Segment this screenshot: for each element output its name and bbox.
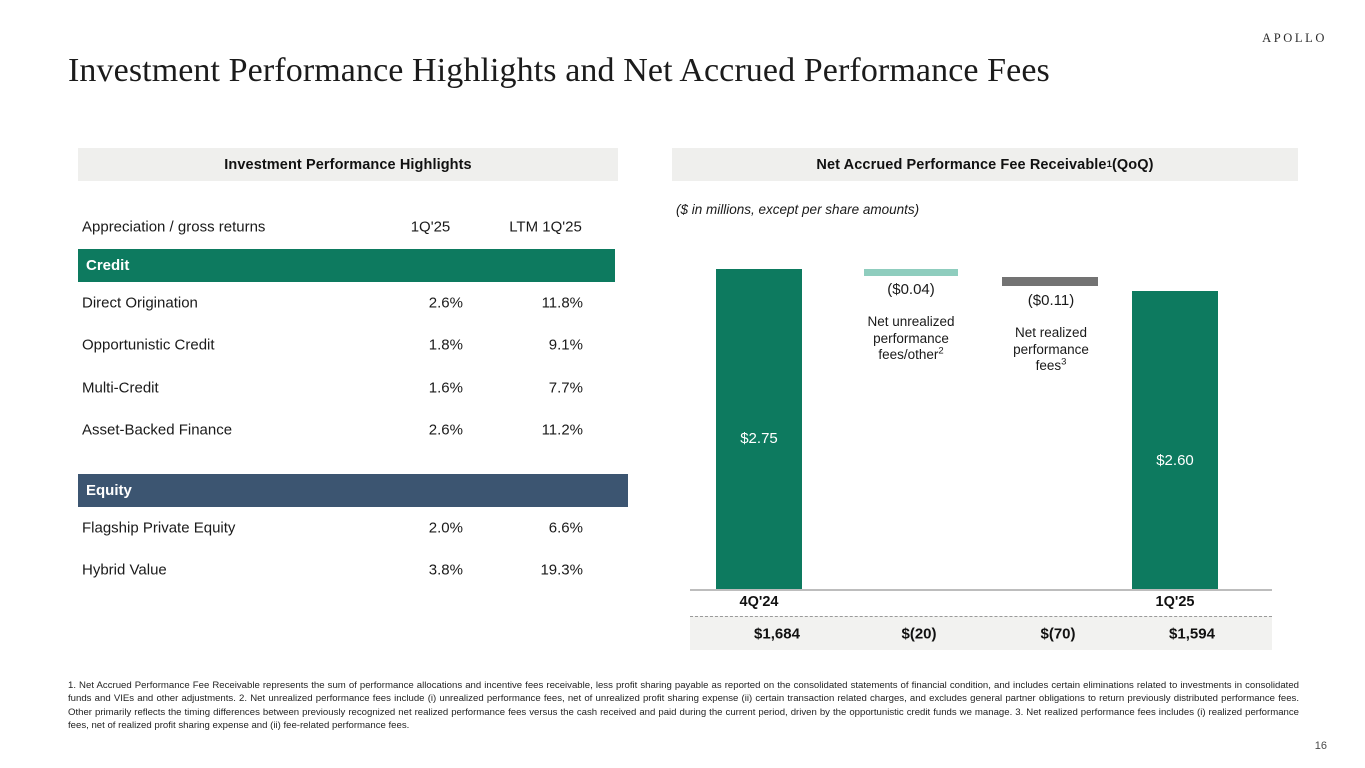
row-value-col2: 11.8% xyxy=(508,294,583,311)
caption-line-3: fees xyxy=(1036,358,1062,373)
section-header-equity: Equity xyxy=(78,474,628,507)
table-row: Hybrid Value 3.8% 19.3% xyxy=(78,549,618,592)
table-row: Asset-Backed Finance 2.6% 11.2% xyxy=(78,409,618,452)
column-header-col2: LTM 1Q'25 xyxy=(508,219,583,236)
right-panel-header: Net Accrued Performance Fee Receivable1 … xyxy=(672,148,1298,181)
caption-line-1: Net unrealized xyxy=(867,314,954,329)
chart-plot-area: $2.75 ($0.04) Net unrealized performance… xyxy=(672,252,1272,594)
column-header-label: Appreciation / gross returns xyxy=(82,219,265,236)
bar-net-unrealized-performance-fees xyxy=(864,269,958,276)
caption-line-1: Net realized xyxy=(1015,325,1087,340)
bar-1q25: $2.60 xyxy=(1132,291,1218,589)
section-header-equity-label: Equity xyxy=(78,482,132,499)
table-row: Multi-Credit 1.6% 7.7% xyxy=(78,367,618,410)
section-header-credit-label: Credit xyxy=(78,257,129,274)
page-number: 16 xyxy=(1315,740,1327,752)
right-panel-header-label: Net Accrued Performance Fee Receivable xyxy=(816,157,1106,173)
bar-1q25-value: $2.60 xyxy=(1132,452,1218,469)
row-value-col1: 2.6% xyxy=(398,422,463,439)
left-panel-header: Investment Performance Highlights xyxy=(78,148,618,181)
caption-line-2: performance xyxy=(873,331,949,346)
summary-total-4q24: $1,684 xyxy=(712,625,842,642)
row-value-col2: 11.2% xyxy=(508,422,583,439)
chart-axis-labels: 4Q'24 1Q'25 xyxy=(672,594,1272,616)
summary-total-unrealized: $(20) xyxy=(854,625,984,642)
row-label: Asset-Backed Finance xyxy=(82,422,232,439)
investment-performance-table: Appreciation / gross returns 1Q'25 LTM 1… xyxy=(78,206,618,592)
chart-baseline xyxy=(690,589,1272,591)
row-value-col1: 3.8% xyxy=(398,562,463,579)
table-row: Opportunistic Credit 1.8% 9.1% xyxy=(78,324,618,367)
footnote-marker-2: 2 xyxy=(938,346,943,357)
table-row: Direct Origination 2.6% 11.8% xyxy=(78,282,618,325)
axis-tick-4q24: 4Q'24 xyxy=(699,594,819,610)
row-label: Hybrid Value xyxy=(82,562,167,579)
left-panel-header-label: Investment Performance Highlights xyxy=(224,157,471,173)
right-panel-header-suffix: (QoQ) xyxy=(1112,157,1154,173)
row-label: Flagship Private Equity xyxy=(82,519,235,536)
bar-net-unrealized-caption: Net unrealized performance fees/other2 xyxy=(847,314,975,364)
row-value-col1: 1.8% xyxy=(398,337,463,354)
bar-4q24-value: $2.75 xyxy=(716,430,802,447)
footnote-marker-3: 3 xyxy=(1061,357,1066,368)
chart-units-note: ($ in millions, except per share amounts… xyxy=(676,202,919,217)
row-value-col1: 2.0% xyxy=(398,519,463,536)
bar-net-unrealized-value: ($0.04) xyxy=(847,281,975,298)
net-accrued-performance-fee-chart: ($ in millions, except per share amounts… xyxy=(672,196,1298,648)
bar-4q24: $2.75 xyxy=(716,269,802,589)
row-label: Multi-Credit xyxy=(82,379,159,396)
column-header-col1: 1Q'25 xyxy=(398,219,463,236)
summary-total-realized: $(70) xyxy=(993,625,1123,642)
chart-summary-row: $1,684 $(20) $(70) $1,594 xyxy=(690,616,1272,650)
bar-net-realized-value: ($0.11) xyxy=(987,292,1115,309)
row-label: Direct Origination xyxy=(82,294,198,311)
table-row: Flagship Private Equity 2.0% 6.6% xyxy=(78,507,618,550)
row-value-col2: 9.1% xyxy=(508,337,583,354)
section-header-credit: Credit xyxy=(78,249,615,282)
row-value-col2: 6.6% xyxy=(508,519,583,536)
caption-line-2: performance xyxy=(1013,342,1089,357)
row-label: Opportunistic Credit xyxy=(82,337,215,354)
axis-tick-1q25: 1Q'25 xyxy=(1115,594,1235,610)
apollo-logo: APOLLO xyxy=(1262,31,1327,46)
bar-net-realized-performance-fees xyxy=(1002,277,1098,286)
section-spacer xyxy=(78,452,618,474)
row-value-col1: 1.6% xyxy=(398,379,463,396)
summary-total-1q25: $1,594 xyxy=(1127,625,1257,642)
footnotes: 1. Net Accrued Performance Fee Receivabl… xyxy=(68,679,1299,733)
caption-line-3: fees/other xyxy=(878,347,938,362)
row-value-col2: 19.3% xyxy=(508,562,583,579)
bar-net-realized-caption: Net realized performance fees3 xyxy=(987,325,1115,375)
table-column-header-row: Appreciation / gross returns 1Q'25 LTM 1… xyxy=(78,206,618,249)
row-value-col1: 2.6% xyxy=(398,294,463,311)
row-value-col2: 7.7% xyxy=(508,379,583,396)
page-title: Investment Performance Highlights and Ne… xyxy=(68,52,1050,90)
